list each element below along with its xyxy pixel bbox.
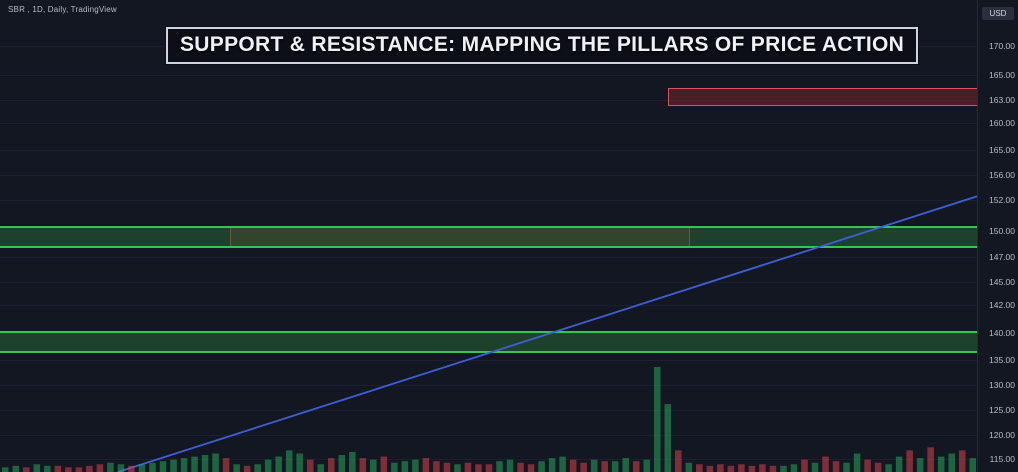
price-tick: 152.00 xyxy=(989,195,1015,205)
chart-title-banner: SUPPORT & RESISTANCE: MAPPING THE PILLAR… xyxy=(166,27,918,64)
price-tick: 142.00 xyxy=(989,300,1015,310)
price-tick: 140.00 xyxy=(989,328,1015,338)
price-tick: 160.00 xyxy=(989,118,1015,128)
ticker-legend: SBR , 1D, Daily, TradingView xyxy=(8,5,117,14)
price-tick: 120.00 xyxy=(989,430,1015,440)
price-tick: 125.00 xyxy=(989,405,1015,415)
price-tick: 130.00 xyxy=(989,380,1015,390)
page-title: SUPPORT & RESISTANCE: MAPPING THE PILLAR… xyxy=(180,33,904,57)
price-tick: 135.00 xyxy=(989,355,1015,365)
price-tick: 156.00 xyxy=(989,170,1015,180)
price-tick: 170.00 xyxy=(989,41,1015,51)
price-tick: 115.00 xyxy=(990,454,1015,464)
price-tick: 147.00 xyxy=(989,252,1015,262)
price-plot-area[interactable] xyxy=(0,0,978,472)
price-tick: 163.00 xyxy=(989,95,1015,105)
price-tick: 165.00 xyxy=(989,145,1015,155)
price-tick: 165.00 xyxy=(989,70,1015,80)
currency-badge: USD xyxy=(982,7,1014,20)
price-tick: 150.00 xyxy=(989,226,1015,236)
breakout-arrow-layer xyxy=(0,0,978,472)
price-tick: 145.00 xyxy=(989,277,1015,287)
tradingview-chart: SBR , 1D, Daily, TradingView SUPPORT & R… xyxy=(0,0,1018,472)
price-axis[interactable]: USD 170.00165.00163.00160.00165.00156.00… xyxy=(977,0,1018,472)
